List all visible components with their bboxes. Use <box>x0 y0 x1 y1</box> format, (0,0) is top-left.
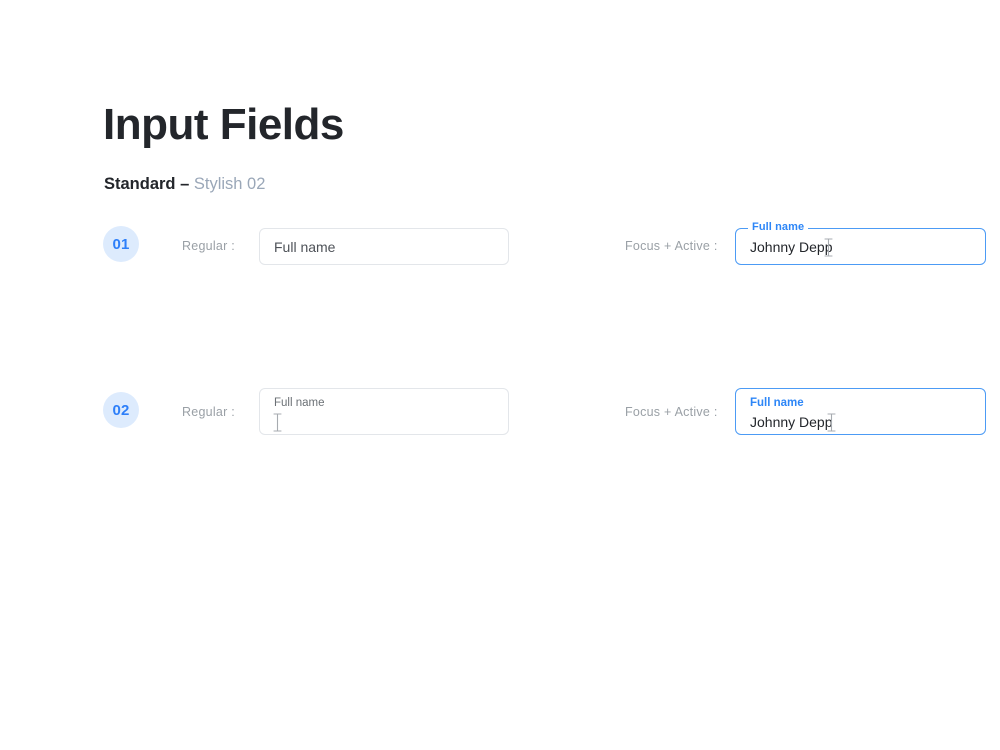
subtitle-strong: Standard – <box>104 175 189 193</box>
text-cursor-icon <box>273 413 282 432</box>
input-field-regular[interactable]: Full name <box>259 228 509 265</box>
input-floating-label: Full name <box>748 221 808 233</box>
input-placeholder: Full name <box>274 239 335 255</box>
field-caption-regular: Regular : <box>182 239 235 253</box>
input-value: Johnny Depp <box>750 239 833 255</box>
input-floating-label: Full name <box>274 396 325 410</box>
page-subtitle: Standard – Stylish 02 <box>104 173 265 195</box>
text-cursor-icon <box>827 413 836 432</box>
input-field-focus-active[interactable]: Full name Johnny Depp <box>735 228 986 265</box>
input-floating-label: Full name <box>750 396 804 410</box>
field-caption-focus-active: Focus + Active : <box>625 239 718 253</box>
field-caption-focus-active: Focus + Active : <box>625 405 718 419</box>
row-number-badge: 02 <box>103 392 139 428</box>
row-number-badge: 01 <box>103 226 139 262</box>
page-canvas: Input Fields Standard – Stylish 02 01 Re… <box>0 0 1000 750</box>
input-field-regular[interactable]: Full name <box>259 388 509 435</box>
field-caption-regular: Regular : <box>182 405 235 419</box>
subtitle-muted: Stylish 02 <box>194 175 266 193</box>
input-value: Johnny Depp <box>750 413 833 431</box>
page-title: Input Fields <box>103 96 344 154</box>
text-cursor-icon <box>824 238 833 257</box>
input-field-focus-active[interactable]: Full name Johnny Depp <box>735 388 986 435</box>
